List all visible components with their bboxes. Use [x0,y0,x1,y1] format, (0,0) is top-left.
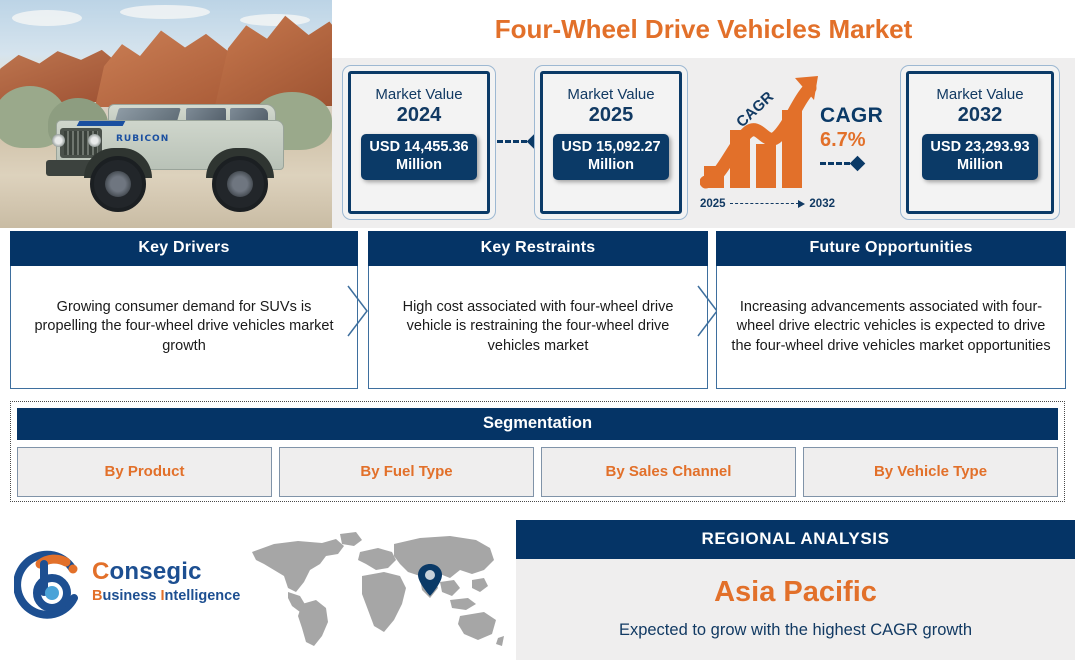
market-value-year: 2025 [589,104,634,127]
world-map-svg [244,530,506,650]
regional-analysis-subtitle: Expected to grow with the highest CAGR g… [516,621,1075,640]
cagr-year-range: 2025 2032 [700,198,835,210]
cagr-end-year: 2032 [809,198,835,210]
logo-sub-ntelligence: ntelligence [165,588,241,604]
regional-analysis-region: Asia Pacific [516,576,1075,609]
vehicle-trim-badge: RUBICON [116,134,169,144]
segmentation-cells: By Product By Fuel Type By Sales Channel… [17,447,1058,497]
market-value-label: Market Value [567,86,654,103]
logo-name-rest: onsegic [110,558,202,585]
key-factors-row: Key Drivers Growing consumer demand for … [0,231,1075,391]
key-restraints-box: Key Restraints High cost associated with… [368,231,708,389]
logo-wordmark: Consegic Business Intelligence [92,558,240,604]
bottom-band: Consegic Business Intelligence [0,510,1075,660]
regional-analysis-panel: REGIONAL ANALYSIS Asia Pacific Expected … [516,520,1075,660]
suv-vehicle: RUBICON [38,104,300,208]
connector-cagr-to-2032 [820,158,863,169]
infographic-page: RUBICON Four-Wheel Drive Vehicles Market… [0,0,1075,660]
cagr-block: CAGR CAGR 6.7% 2025 2032 [700,68,896,218]
key-drivers-heading: Key Drivers [10,231,358,266]
market-value-unit: Million [396,157,442,173]
regional-analysis-heading: REGIONAL ANALYSIS [516,520,1075,559]
segment-by-product[interactable]: By Product [17,447,272,497]
segment-by-fuel-type[interactable]: By Fuel Type [279,447,534,497]
wheel-rim [227,171,253,197]
logo-sub-usiness: usiness [102,588,160,604]
headlight [52,134,65,147]
growth-arrow-bars-svg: CAGR [700,70,828,200]
headlight [88,134,101,147]
hood-stripe [77,121,126,126]
market-value-year: 2032 [958,104,1003,127]
chevron-right-icon-1 [347,285,369,337]
segmentation-heading: Segmentation [17,408,1058,440]
cloud-shape [120,5,210,19]
market-value-card-2025: Market Value 2025 USD 15,092.27 Million [534,65,688,220]
market-value-label: Market Value [375,86,462,103]
logo-name-initial: C [92,558,110,585]
world-map [244,530,506,650]
cagr-value: 6.7% [820,129,883,152]
market-value-amount: USD 14,455.36 Million [361,134,476,179]
future-opportunities-heading: Future Opportunities [716,231,1066,266]
diamond-marker-icon [850,156,866,172]
company-logo: Consegic Business Intelligence [14,546,244,626]
page-title: Four-Wheel Drive Vehicles Market [332,0,1075,58]
consegic-logo-mark-icon [14,548,86,620]
cloud-shape [12,10,82,26]
market-value-label: Market Value [936,86,1023,103]
market-value-year: 2024 [397,104,442,127]
logo-company-name: Consegic [92,558,240,586]
market-value-panel: Market Value 2024 USD 14,455.36 Million … [332,58,1075,228]
top-band: RUBICON Four-Wheel Drive Vehicles Market… [0,0,1075,228]
key-restraints-text: High cost associated with four-wheel dri… [368,266,708,389]
market-value-number: USD 15,092.27 [561,139,660,155]
segmentation-section: Segmentation By Product By Fuel Type By … [10,401,1065,502]
market-value-amount: USD 15,092.27 Million [553,134,668,179]
growth-chart-icon: CAGR [700,70,828,200]
logo-sub-b: B [92,588,102,604]
cloud-shape [240,14,310,26]
market-value-unit: Million [957,157,1003,173]
market-value-number: USD 14,455.36 [369,139,468,155]
cagr-label: CAGR [820,104,883,128]
hero-vehicle-image: RUBICON [0,0,332,228]
future-opportunities-text: Increasing advancements associated with … [716,266,1066,389]
front-wheel [90,156,146,212]
wheel-rim [105,171,131,197]
key-drivers-text: Growing consumer demand for SUVs is prop… [10,266,358,389]
market-value-amount: USD 23,293.93 Million [922,134,1037,179]
market-value-card-2032: Market Value 2032 USD 23,293.93 Million [900,65,1060,220]
year-range-arrow-icon [730,200,806,208]
map-pin-icon [418,564,442,596]
market-value-card-2024: Market Value 2024 USD 14,455.36 Million [342,65,496,220]
cagr-start-year: 2025 [700,198,726,210]
future-opportunities-box: Future Opportunities Increasing advancem… [716,231,1066,389]
logo-tagline: Business Intelligence [92,588,240,604]
cagr-readout: CAGR 6.7% [820,104,883,152]
dashed-line [497,140,527,143]
dashed-line [820,162,850,165]
segment-by-vehicle-type[interactable]: By Vehicle Type [803,447,1058,497]
rear-wheel [212,156,268,212]
segment-by-sales-channel[interactable]: By Sales Channel [541,447,796,497]
key-restraints-heading: Key Restraints [368,231,708,266]
key-drivers-box: Key Drivers Growing consumer demand for … [10,231,358,389]
market-value-unit: Million [588,157,634,173]
market-value-number: USD 23,293.93 [930,139,1029,155]
